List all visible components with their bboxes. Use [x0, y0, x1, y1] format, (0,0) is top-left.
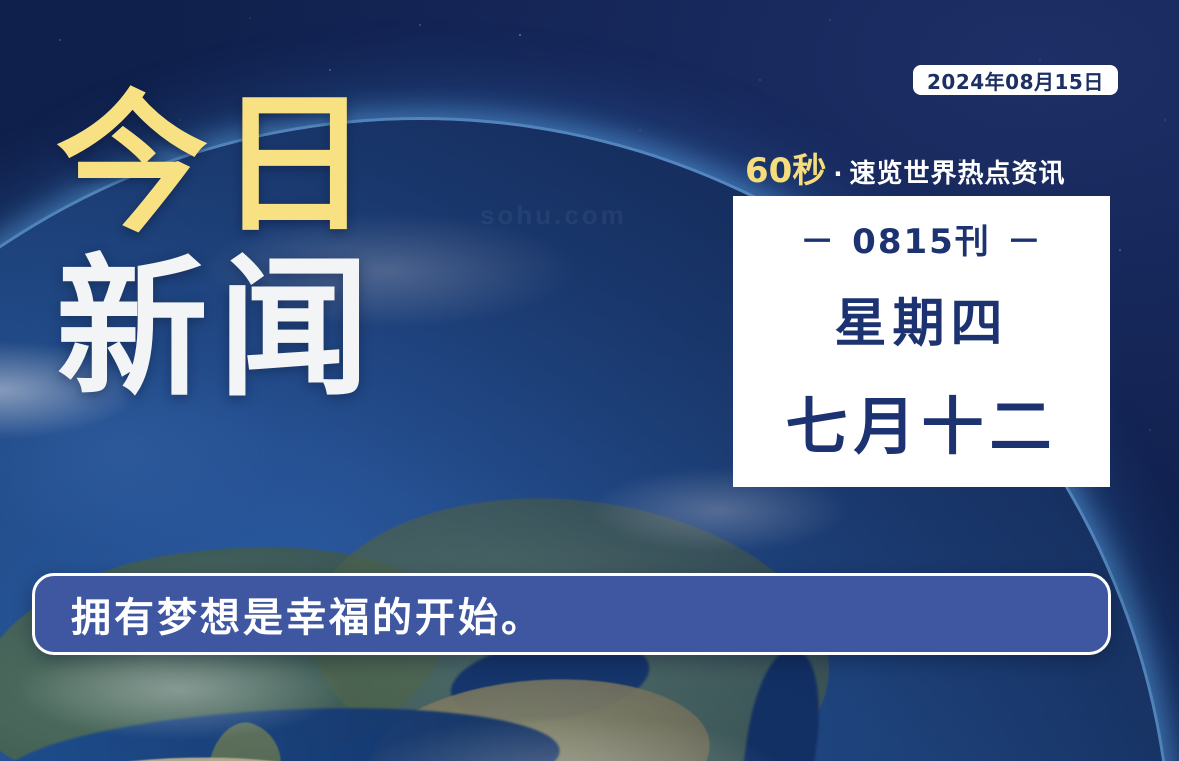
tagline: 60秒 · 速览世界热点资讯: [745, 143, 1111, 192]
issue-dash-right: －: [1007, 222, 1043, 262]
issue-dash-left: －: [800, 222, 836, 262]
tagline-separator: ·: [833, 160, 842, 188]
brand-title-line2: 新闻: [56, 256, 380, 402]
info-card: －0815刊－ 星期四 七月十二: [733, 196, 1110, 487]
brand-title-line1: 今日: [56, 92, 380, 238]
date-badge: 2024年08月15日: [913, 65, 1118, 95]
weekday-label: 星期四: [834, 281, 1008, 356]
lunar-date-label: 七月十二: [785, 376, 1057, 466]
tagline-seconds: 60秒: [745, 143, 826, 192]
news-poster: sohu.com 今日 新闻 2024年08月15日 60秒 · 速览世界热点资…: [0, 0, 1179, 761]
quote-bar: 拥有梦想是幸福的开始。: [32, 573, 1111, 655]
issue-number: 0815刊: [852, 222, 991, 262]
issue-line: －0815刊－: [784, 214, 1059, 263]
watermark: sohu.com: [480, 200, 627, 231]
brand-title: 今日 新闻: [56, 92, 380, 402]
tagline-text: 速览世界热点资讯: [849, 153, 1065, 190]
quote-text: 拥有梦想是幸福的开始。: [71, 585, 544, 643]
date-badge-label: 2024年08月15日: [927, 66, 1104, 95]
